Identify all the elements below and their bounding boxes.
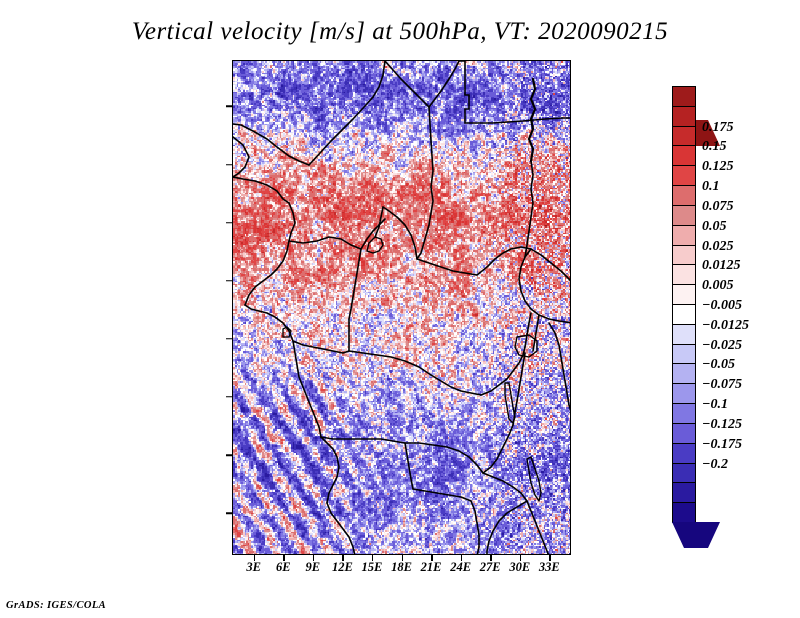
colorbar-band [672,284,696,305]
colorbar-band [672,145,696,166]
colorbar-tick-label: −0.05 [702,357,735,373]
longitude-tick-mark [402,555,404,561]
longitude-tick-label: 24E [450,560,471,575]
latitude-tick-mark [226,338,232,340]
colorbar-tick-label: −0.175 [702,437,742,453]
colorbar-band [672,502,696,523]
longitude-tick-mark [461,555,463,561]
colorbar-band [672,344,696,365]
latitude-tick-mark [226,396,232,398]
colorbar-band [672,463,696,484]
colorbar-tick-label: 0.05 [702,219,727,235]
longitude-tick-label: 3E [246,560,261,575]
longitude-tick-label: 27E [480,560,501,575]
longitude-tick-label: 12E [332,560,353,575]
colorbar-band [672,185,696,206]
colorbar-band [672,205,696,226]
colorbar-tick-label: 0.025 [702,239,734,255]
longitude-tick-label: 9E [306,560,321,575]
longitude-tick-label: 6E [276,560,291,575]
longitude-tick-label: 18E [391,560,412,575]
colorbar-tick-label: 0.15 [702,139,727,155]
colorbar-tick-label: −0.2 [702,457,728,473]
colorbar-band [672,443,696,464]
page-title: Vertical velocity [m/s] at 500hPa, VT: 2… [0,18,800,46]
longitude-tick-mark [283,555,285,561]
longitude-tick-label: 33E [539,560,560,575]
latitude-tick-mark [226,280,232,282]
colorbar-band [672,225,696,246]
country-borders-overlay [233,61,571,555]
colorbar-band [672,106,696,127]
longitude-tick-mark [313,555,315,561]
latitude-tick-mark [226,164,232,166]
colorbar-tick-label: −0.125 [702,417,742,433]
colorbar-band [672,423,696,444]
colorbar-tick-label: 0.175 [702,120,734,136]
colorbar-band [672,383,696,404]
vertical-velocity-colorbar [672,60,696,552]
longitude-tick-label: 15E [362,560,383,575]
colorbar-tick-label: 0.1 [702,179,720,195]
colorbar-tick-label: 0.075 [702,199,734,215]
colorbar-band [672,403,696,424]
footer-attribution: GrADS: IGES/COLA [6,600,106,611]
longitude-tick-mark [549,555,551,561]
map-plot-area [232,60,571,555]
longitude-tick-mark [254,555,256,561]
colorbar-band [672,304,696,325]
colorbar-tick-label: −0.0125 [702,318,749,334]
colorbar-tick-label: −0.1 [702,397,728,413]
colorbar-tick-label: −0.005 [702,298,742,314]
longitude-tick-mark [372,555,374,561]
longitude-tick-mark [490,555,492,561]
colorbar-tick-label: 0.125 [702,159,734,175]
colorbar-band [672,86,696,107]
colorbar-tick-label: 0.0125 [702,258,741,274]
colorbar-bottom-arrow [672,522,720,548]
longitude-tick-mark [431,555,433,561]
colorbar-band [672,165,696,186]
longitude-tick-mark [342,555,344,561]
colorbar-band [672,126,696,147]
colorbar-tick-label: −0.025 [702,338,742,354]
colorbar-band [672,324,696,345]
colorbar-band [672,482,696,503]
colorbar-tick-label: 0.005 [702,278,734,294]
colorbar-band [672,363,696,384]
latitude-tick-mark [226,222,232,224]
colorbar-band [672,245,696,266]
latitude-tick-mark [226,454,232,456]
latitude-tick-mark [226,512,232,514]
grads-plot-window: Vertical velocity [m/s] at 500hPa, VT: 2… [0,0,800,618]
longitude-tick-mark [520,555,522,561]
longitude-tick-label: 21E [421,560,442,575]
colorbar-tick-label: −0.075 [702,377,742,393]
colorbar-band [672,264,696,285]
longitude-tick-label: 30E [509,560,530,575]
latitude-tick-mark [226,106,232,108]
